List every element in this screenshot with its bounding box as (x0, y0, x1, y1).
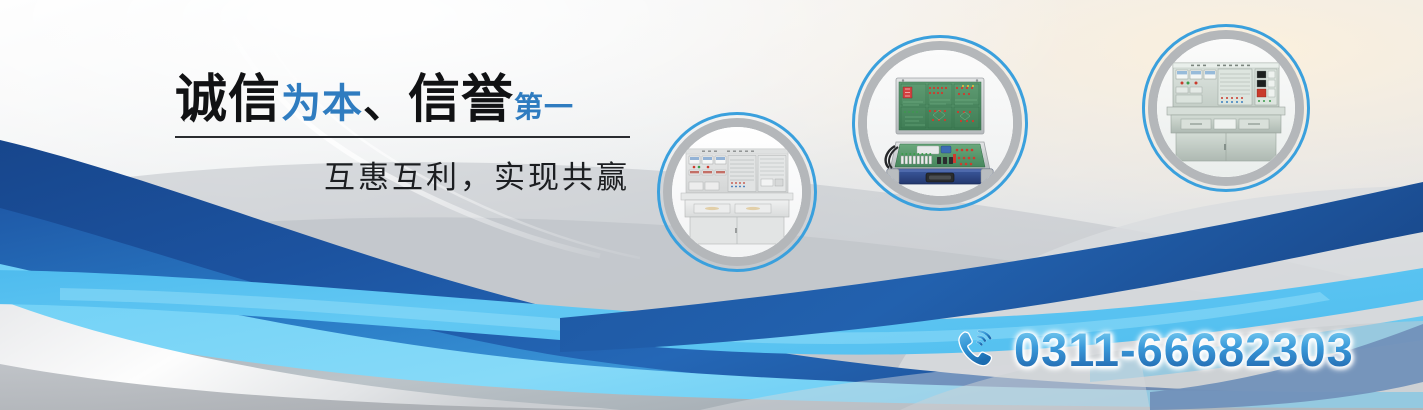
headline-part-2: 为本 (281, 82, 363, 126)
subline: 互惠互利，实现共赢 (175, 152, 630, 197)
headline-comma: 、 (363, 78, 408, 127)
headline-part-1: 诚信 (175, 71, 281, 129)
circle-1-inner-ring (663, 118, 811, 266)
product-image-2 (867, 50, 1013, 196)
promotional-banner: 诚信为本、信誉第一 互惠互利，实现共赢 (0, 0, 1423, 410)
headline: 诚信为本、信誉第一 (175, 74, 635, 136)
product-circle-1[interactable] (657, 112, 817, 272)
circle-2-inner-ring (858, 41, 1022, 205)
product-image-1 (672, 127, 802, 257)
circle-3-inner-ring (1148, 30, 1304, 186)
product-circle-2[interactable] (852, 35, 1028, 211)
headline-part-3: 信誉 (408, 71, 514, 129)
product-image-3 (1157, 39, 1295, 177)
slogan-block: 诚信为本、信誉第一 互惠互利，实现共赢 (175, 74, 635, 197)
headline-part-4: 第一 (514, 92, 574, 124)
contact-phone-block[interactable]: 0311-66682303 (952, 325, 1354, 373)
product-circle-3[interactable] (1142, 24, 1310, 192)
headline-divider (175, 136, 630, 138)
phone-number[interactable]: 0311-66682303 (1014, 326, 1354, 373)
phone-call-icon[interactable] (952, 325, 1000, 373)
